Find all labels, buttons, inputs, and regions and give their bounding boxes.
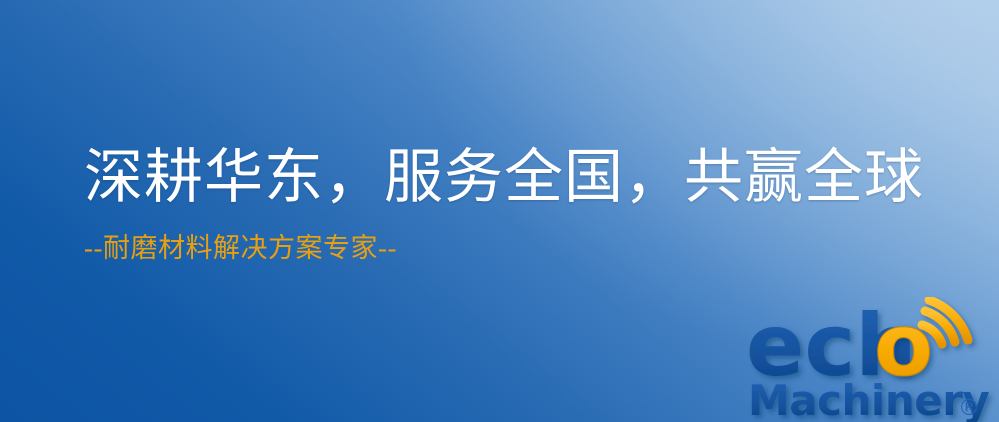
hero-banner: 深耕华东，服务全国，共赢全球 --耐磨材料解决方案专家--: [0, 0, 999, 422]
registered-trademark-icon: ®: [958, 396, 980, 421]
banner-subtitle: --耐磨材料解决方案专家--: [84, 232, 924, 264]
banner-headline: 深耕华东，服务全国，共赢全球: [84, 144, 924, 210]
logo-text-machinery: Machinery: [748, 376, 989, 422]
banner-text-block: 深耕华东，服务全国，共赢全球 --耐磨材料解决方案专家--: [84, 144, 924, 264]
echo-machinery-logo[interactable]: ech o Machinery ®: [746, 297, 999, 422]
